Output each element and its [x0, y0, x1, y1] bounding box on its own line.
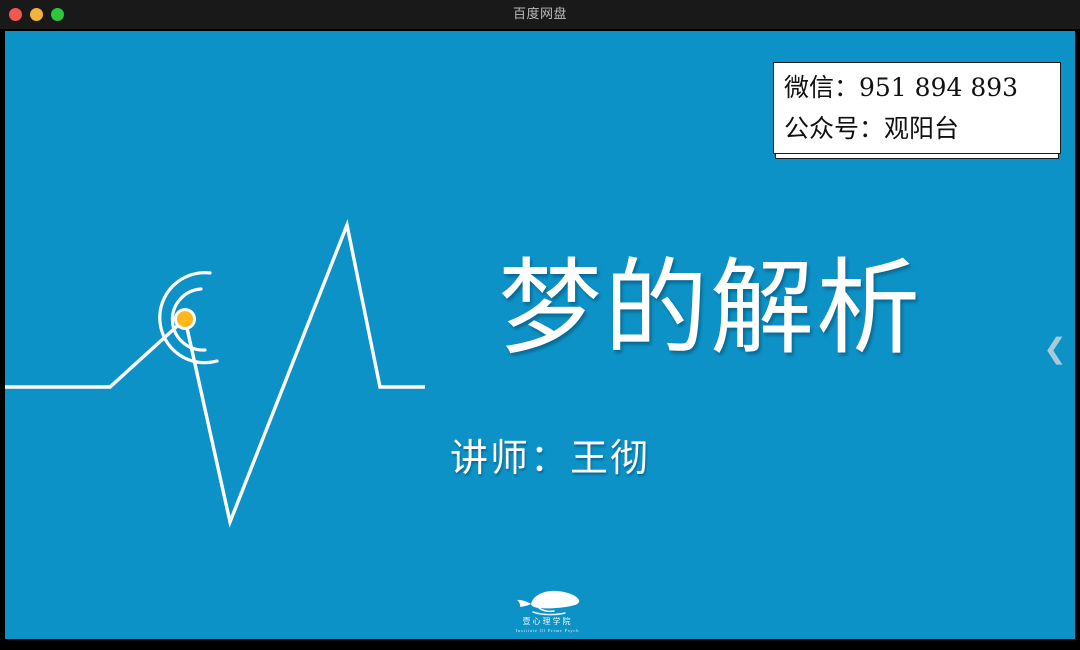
window-titlebar: 百度网盘 — [0, 0, 1080, 29]
brand-tagline: Institute Of Prime Psych — [500, 627, 595, 634]
presentation-slide[interactable]: 梦的解析 讲师：王彻 壹心理学院 Institute Of Prime Psyc… — [5, 31, 1075, 639]
pulse-origin-dot — [177, 311, 193, 327]
chevron-left-icon[interactable]: ❮ — [1043, 327, 1067, 371]
slide-subtitle-instructor: 讲师：王彻 — [425, 427, 675, 482]
slide-frame: 梦的解析 讲师：王彻 壹心理学院 Institute Of Prime Psyc… — [5, 31, 1075, 643]
pulse-origin-ring — [174, 308, 196, 330]
brand-logo: 壹心理学院 Institute Of Prime Psych — [500, 587, 595, 639]
watermark-wechat-line: 微信：951 894 893 — [784, 67, 1050, 108]
window-title: 百度网盘 — [0, 0, 1080, 29]
brand-name: 壹心理学院 — [500, 617, 595, 627]
watermark-contact-box: 微信：951 894 893 公众号：观阳台 — [773, 62, 1061, 154]
whale-icon — [509, 587, 587, 617]
slide-title: 梦的解析 — [475, 252, 945, 364]
watermark-official-account-line: 公众号：观阳台 — [784, 108, 1050, 149]
ekg-pulse-graphic — [5, 211, 425, 541]
app-window: 百度网盘 梦的解析 讲师：王彻 — [0, 0, 1080, 650]
